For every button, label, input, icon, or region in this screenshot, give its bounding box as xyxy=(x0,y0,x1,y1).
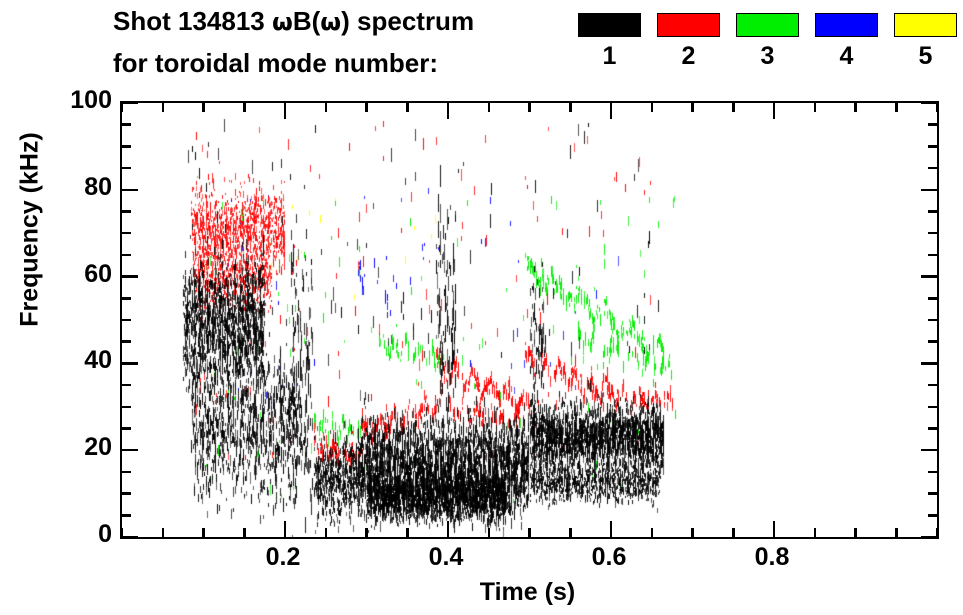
x-tick-1 xyxy=(936,528,939,537)
legend-item-5[interactable]: 5 xyxy=(894,13,957,69)
figure-title-line-2: for toroidal mode number: xyxy=(113,48,438,79)
title-text-post: ) spectrum xyxy=(341,6,474,36)
x-tick-0.85 xyxy=(814,528,817,537)
y-tick-25 xyxy=(122,427,131,430)
legend-swatch-1 xyxy=(578,13,641,37)
y-tick-0 xyxy=(122,536,138,539)
y-tick-70 xyxy=(928,232,937,235)
x-tick-0.15 xyxy=(243,528,246,537)
y-tick-30 xyxy=(928,406,937,409)
x-axis-title: Time (s) xyxy=(120,578,935,607)
y-tick-75 xyxy=(122,210,131,213)
x-tick-0.85 xyxy=(814,103,817,112)
legend-label-1: 1 xyxy=(578,44,641,69)
y-tick-label-80: 80 xyxy=(84,175,112,200)
x-tick-0.1 xyxy=(202,528,205,537)
y-tick-100 xyxy=(122,102,138,105)
x-tick-0.15 xyxy=(243,103,246,112)
spectrogram-figure: Shot 134813 ωB(ω) spectrum for toroidal … xyxy=(0,0,963,615)
y-tick-55 xyxy=(122,297,131,300)
x-tick-0.45 xyxy=(488,528,491,537)
legend-label-3: 3 xyxy=(736,44,799,69)
x-tick-0.7 xyxy=(691,528,694,537)
legend-label-2: 2 xyxy=(657,44,720,69)
x-tick-label-0.4: 0.4 xyxy=(406,545,486,570)
legend-item-1[interactable]: 1 xyxy=(578,13,641,69)
x-tick-0.75 xyxy=(732,528,735,537)
x-tick-0.9 xyxy=(854,103,857,112)
y-tick-5 xyxy=(928,514,937,517)
x-tick-0.55 xyxy=(569,528,572,537)
y-tick-20 xyxy=(122,449,138,452)
x-tick-0.05 xyxy=(162,103,165,112)
y-tick-40 xyxy=(921,362,937,365)
legend: 12345 xyxy=(578,13,958,88)
x-tick-label-0.8: 0.8 xyxy=(732,545,812,570)
y-tick-50 xyxy=(928,319,937,322)
x-tick-0 xyxy=(121,528,124,537)
figure-title-line-1: Shot 134813 ωB(ω) spectrum xyxy=(113,6,474,37)
x-tick-0.95 xyxy=(895,528,898,537)
y-tick-55 xyxy=(928,297,937,300)
y-tick-10 xyxy=(928,492,937,495)
y-axis-title: Frequency (kHz) xyxy=(16,100,45,360)
y-tick-85 xyxy=(928,167,937,170)
legend-item-4[interactable]: 4 xyxy=(815,13,878,69)
x-tick-0.5 xyxy=(528,103,531,112)
y-tick-0 xyxy=(921,536,937,539)
x-tick-0.1 xyxy=(202,103,205,112)
y-tick-15 xyxy=(122,471,131,474)
y-tick-95 xyxy=(122,123,131,126)
x-tick-0.6 xyxy=(610,103,613,119)
y-tick-label-100: 100 xyxy=(70,88,112,113)
x-tick-0.55 xyxy=(569,103,572,112)
x-tick-0.2 xyxy=(284,521,287,537)
legend-swatch-5 xyxy=(894,13,957,37)
y-tick-label-20: 20 xyxy=(84,435,112,460)
y-tick-15 xyxy=(928,471,937,474)
legend-item-2[interactable]: 2 xyxy=(657,13,720,69)
y-tick-label-0: 0 xyxy=(98,522,112,547)
x-tick-label-0.2: 0.2 xyxy=(243,545,323,570)
title-text-pre: Shot 134813 xyxy=(113,6,272,36)
y-tick-65 xyxy=(122,254,131,257)
y-tick-75 xyxy=(928,210,937,213)
x-tick-0.5 xyxy=(528,528,531,537)
x-tick-0.65 xyxy=(651,528,654,537)
x-tick-0.7 xyxy=(691,103,694,112)
x-tick-0.6 xyxy=(610,521,613,537)
y-tick-70 xyxy=(122,232,131,235)
y-tick-60 xyxy=(122,275,138,278)
y-tick-80 xyxy=(122,189,138,192)
y-tick-20 xyxy=(921,449,937,452)
x-tick-0.95 xyxy=(895,103,898,112)
y-tick-35 xyxy=(928,384,937,387)
x-tick-0 xyxy=(121,103,124,112)
y-tick-label-60: 60 xyxy=(84,262,112,287)
x-tick-0.25 xyxy=(325,103,328,112)
y-tick-30 xyxy=(122,406,131,409)
x-tick-0.4 xyxy=(447,103,450,119)
x-tick-0.75 xyxy=(732,103,735,112)
x-tick-0.8 xyxy=(773,103,776,119)
x-tick-0.3 xyxy=(365,528,368,537)
y-tick-50 xyxy=(122,319,131,322)
y-tick-45 xyxy=(928,340,937,343)
y-tick-100 xyxy=(921,102,937,105)
omega-symbol-1: ω xyxy=(272,8,293,36)
x-tick-0.05 xyxy=(162,528,165,537)
x-tick-0.45 xyxy=(488,103,491,112)
y-tick-65 xyxy=(928,254,937,257)
y-tick-60 xyxy=(921,275,937,278)
y-tick-95 xyxy=(928,123,937,126)
legend-swatch-2 xyxy=(657,13,720,37)
x-axis-tick-labels: 0.20.40.60.8 xyxy=(120,545,935,577)
y-tick-85 xyxy=(122,167,131,170)
y-tick-40 xyxy=(122,362,138,365)
x-tick-0.8 xyxy=(773,521,776,537)
legend-label-5: 5 xyxy=(894,44,957,69)
x-tick-0.35 xyxy=(406,103,409,112)
legend-item-3[interactable]: 3 xyxy=(736,13,799,69)
y-tick-label-40: 40 xyxy=(84,348,112,373)
omega-symbol-2: ω xyxy=(320,8,341,36)
y-tick-10 xyxy=(122,492,131,495)
legend-swatch-4 xyxy=(815,13,878,37)
x-tick-0.3 xyxy=(365,103,368,112)
y-tick-45 xyxy=(122,340,131,343)
x-tick-0.35 xyxy=(406,528,409,537)
title-text-mid: B( xyxy=(293,6,320,36)
y-tick-5 xyxy=(122,514,131,517)
y-tick-90 xyxy=(122,145,131,148)
legend-swatch-3 xyxy=(736,13,799,37)
y-tick-25 xyxy=(928,427,937,430)
x-tick-0.65 xyxy=(651,103,654,112)
x-tick-label-0.6: 0.6 xyxy=(569,545,649,570)
x-tick-0.9 xyxy=(854,528,857,537)
x-tick-0.2 xyxy=(284,103,287,119)
x-tick-0.25 xyxy=(325,528,328,537)
y-tick-35 xyxy=(122,384,131,387)
y-tick-90 xyxy=(928,145,937,148)
x-tick-1 xyxy=(936,103,939,112)
plot-area xyxy=(120,101,939,539)
y-tick-80 xyxy=(921,189,937,192)
legend-label-4: 4 xyxy=(815,44,878,69)
x-tick-0.4 xyxy=(447,521,450,537)
spectrogram-canvas xyxy=(122,103,937,537)
